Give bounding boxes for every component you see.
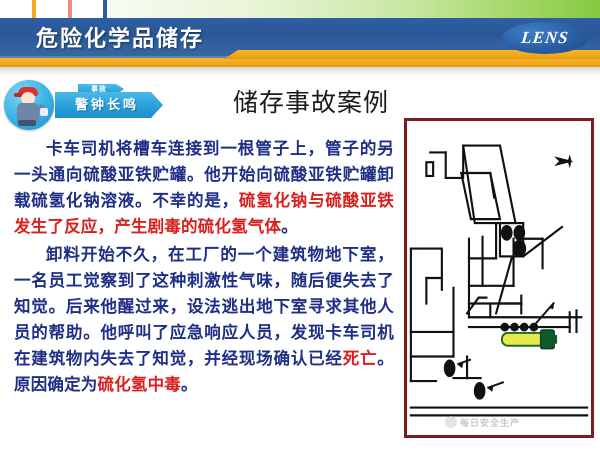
top-gradient-bar	[110, 0, 600, 18]
mascot-hand	[40, 108, 48, 116]
top-tick-blue	[103, 0, 107, 18]
highlighted-text: 死亡	[343, 349, 378, 368]
site-diagram-svg	[407, 121, 591, 435]
banner-alert: 警钟长鸣	[55, 92, 163, 118]
mascot-badge-icon	[4, 80, 54, 130]
normal-text: 。	[181, 375, 198, 394]
mascot-leg	[18, 120, 36, 126]
site-diagram-panel: 每日安全生产	[404, 118, 594, 438]
paragraph-2: 卸料开始不久，在工厂的一个建筑物地下室，一名员工觉察到了这种刺激性气味，随后便失…	[14, 242, 394, 398]
highlighted-text: 硫化氢中毒	[98, 375, 182, 394]
body-text: 卡车司机将槽车连接到一根管子上，管子的另一头通向硫酸亚铁贮罐。他开始向硫酸亚铁贮…	[14, 136, 394, 400]
casualty-markers	[444, 359, 504, 399]
slide-root: 危险化学品储存 LENS 事故 警钟长鸣 储存事故案例 卡车司机将槽车连接到一根…	[0, 0, 600, 450]
lens-logo-text: LENS	[500, 22, 589, 54]
watermark: 每日安全生产	[445, 415, 575, 429]
slide-subtitle: 储存事故案例	[196, 86, 426, 120]
tanker-truck-icon	[500, 303, 557, 349]
page-title: 危险化学品储存	[36, 22, 204, 56]
normal-text: 卸料开始不久，在工厂的一个建筑物地下室，一名员工觉察到了这种刺激性气味，随后便失…	[14, 245, 394, 368]
lens-logo: LENS	[502, 22, 588, 54]
normal-text: 。	[281, 217, 298, 236]
header-shadow	[0, 67, 600, 76]
top-tick-pink	[68, 0, 72, 18]
top-tick-orange	[32, 0, 36, 18]
top-decorative-strip	[0, 0, 600, 18]
banner-label: 警钟长鸣	[61, 92, 153, 118]
watermark-label: 每日安全生产	[460, 416, 520, 429]
north-marker-icon	[554, 154, 573, 168]
watermark-avatar-icon	[445, 416, 457, 428]
gold-accent-bar	[0, 58, 600, 67]
paragraph-1: 卡车司机将槽车连接到一根管子上，管子的另一头通向硫酸亚铁贮罐。他开始向硫酸亚铁贮…	[14, 136, 394, 240]
